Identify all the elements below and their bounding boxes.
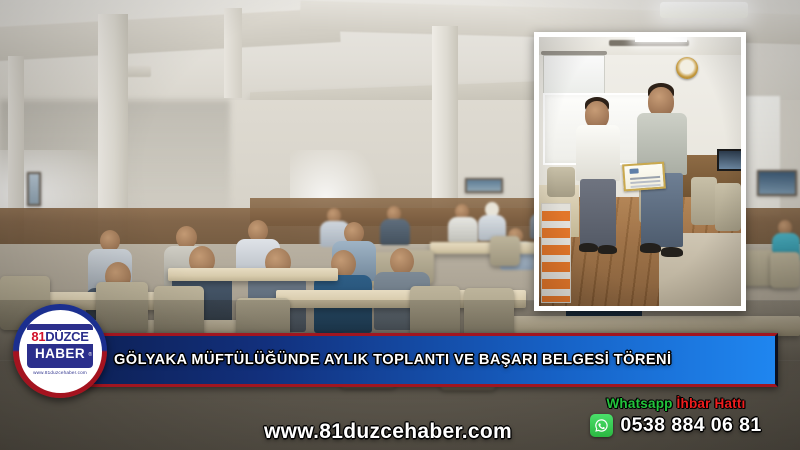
site-logo-duzce: DÜZCE bbox=[45, 329, 88, 344]
ihbar-hatti-label: İhbar Hattı bbox=[677, 396, 746, 411]
site-logo-81: 81 bbox=[31, 329, 45, 344]
headline-bar: GÖLYAKA MÜFTÜLÜĞÜNDE AYLIK TOPLANTI VE B… bbox=[66, 333, 778, 387]
site-logo-line1: 81DÜZCE bbox=[27, 330, 93, 344]
site-logo-plate: 81DÜZCE HABER ® bbox=[27, 324, 93, 368]
news-image-card: GÖLYAKA MÜFTÜLÜĞÜNDE AYLIK TOPLANTI VE B… bbox=[0, 0, 800, 450]
site-logo[interactable]: 81DÜZCE HABER ® www.81duzcehaber.com bbox=[13, 304, 107, 398]
site-logo-url: www.81duzcehaber.com bbox=[33, 370, 87, 375]
whatsapp-hotline: Whatsapp İhbar Hattı 0538 884 06 81 bbox=[560, 396, 792, 437]
whatsapp-phone-number[interactable]: 0538 884 06 81 bbox=[620, 414, 761, 437]
site-logo-inner: 81DÜZCE HABER ® www.81duzcehaber.com bbox=[19, 310, 102, 393]
inset-photo bbox=[534, 32, 746, 311]
headline-title: GÖLYAKA MÜFTÜLÜĞÜNDE AYLIK TOPLANTI VE B… bbox=[114, 352, 672, 368]
inset-vignette bbox=[539, 37, 741, 306]
whatsapp-number-row: 0538 884 06 81 bbox=[560, 414, 792, 437]
footer-site-url[interactable]: www.81duzcehaber.com bbox=[264, 420, 512, 444]
site-logo-haber: HABER bbox=[35, 346, 85, 362]
whatsapp-label: Whatsapp bbox=[606, 396, 672, 411]
whatsapp-hotline-title: Whatsapp İhbar Hattı bbox=[560, 396, 792, 411]
registered-mark-icon: ® bbox=[88, 352, 92, 358]
whatsapp-icon[interactable] bbox=[590, 414, 613, 437]
inset-photo-image bbox=[539, 37, 741, 306]
